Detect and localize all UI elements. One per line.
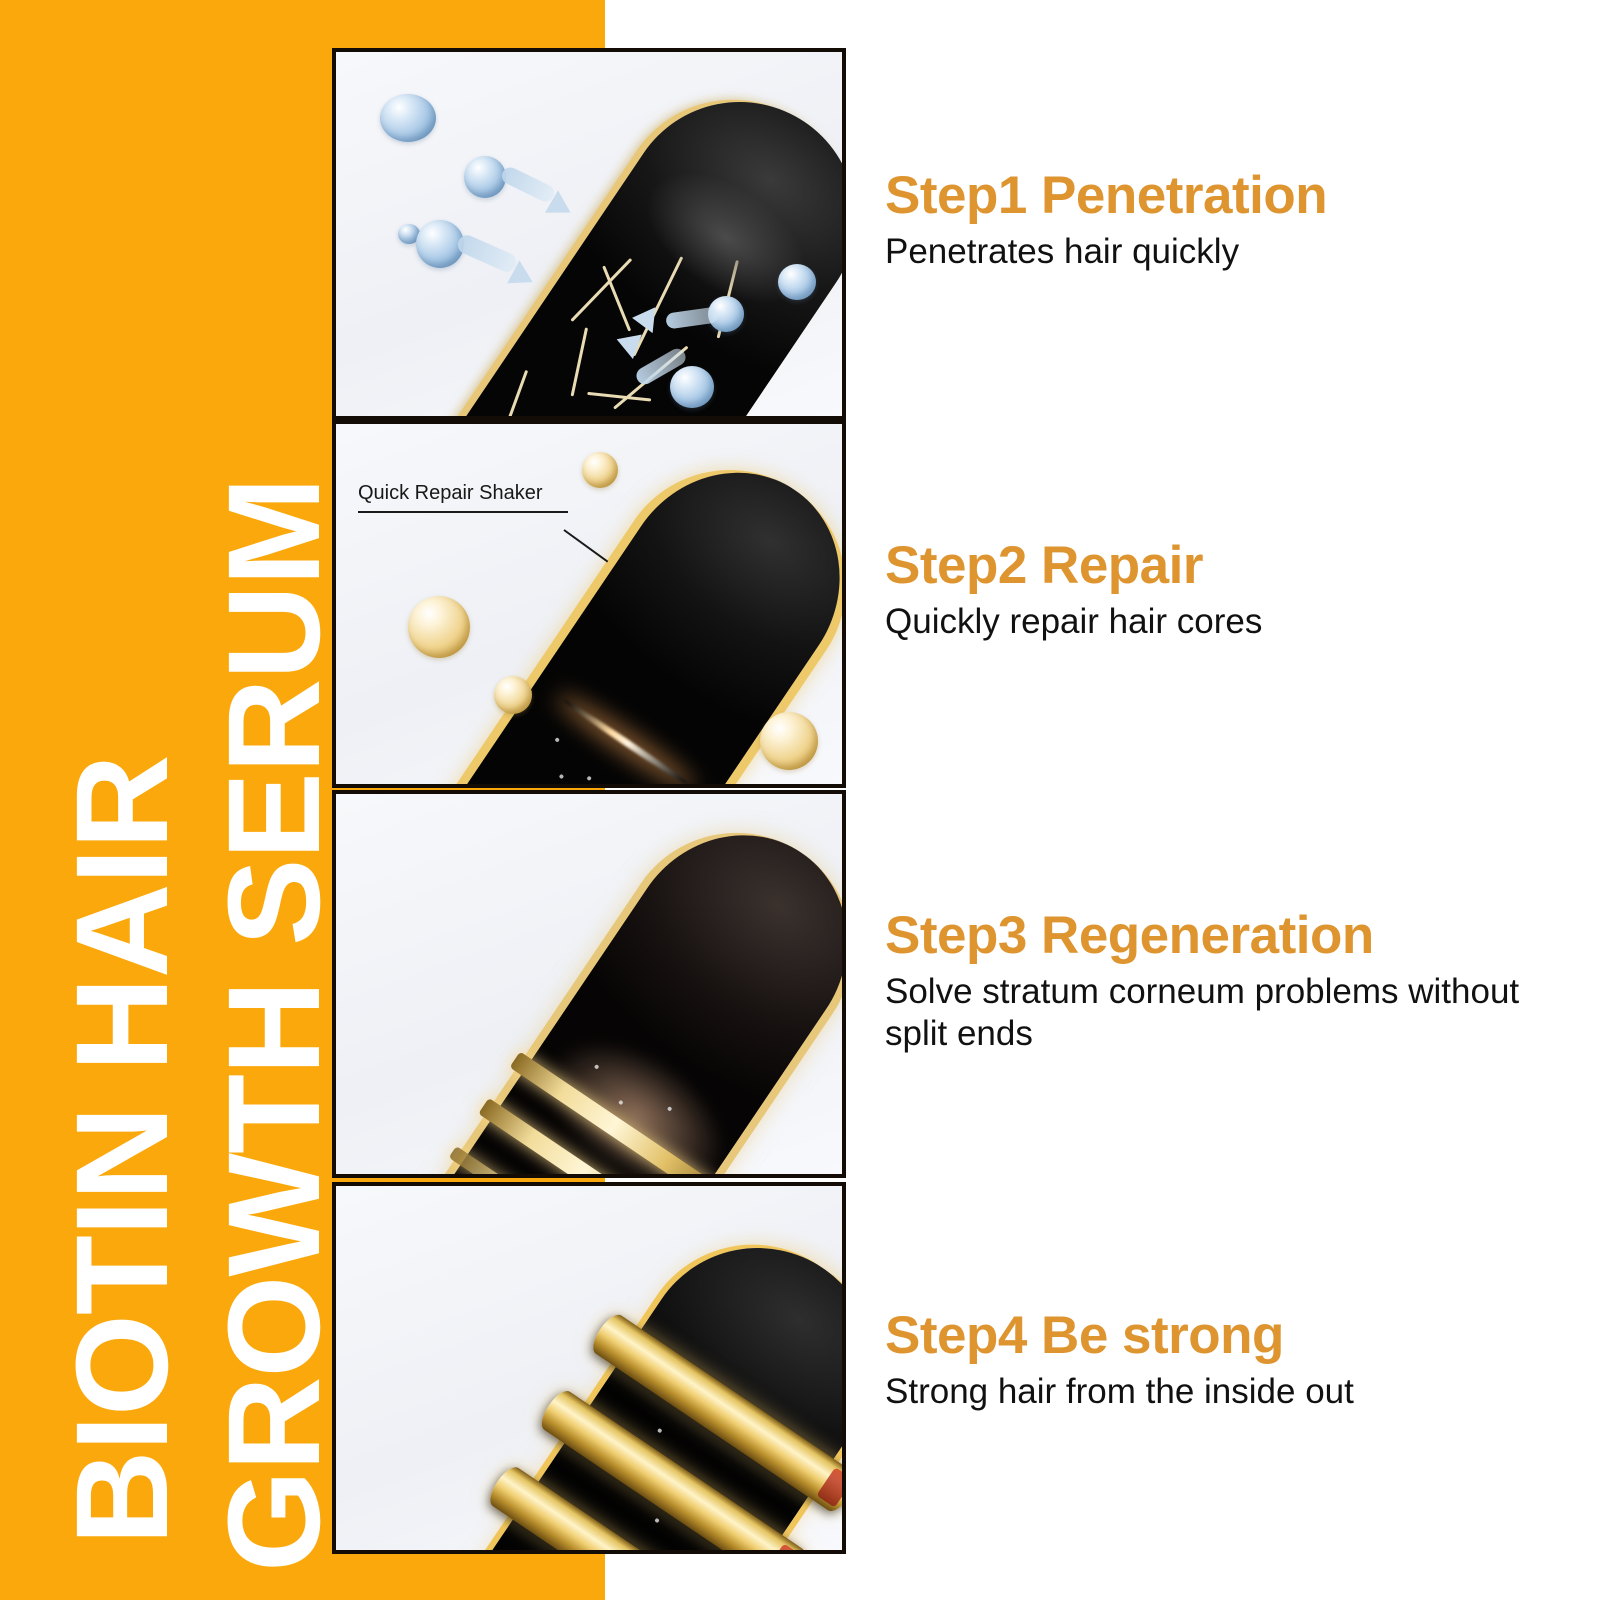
step-block-1: Step1 Penetration Penetrates hair quickl… xyxy=(885,168,1585,273)
step-3-title: Step3 Regeneration xyxy=(885,908,1585,964)
step-2-description: Quickly repair hair cores xyxy=(885,601,1585,644)
illustration-panel-regeneration xyxy=(332,790,846,1178)
serum-droplet-gold xyxy=(760,712,818,770)
illustration-panel-be-strong xyxy=(332,1182,846,1554)
product-title-line-1: BIOTIN HAIR xyxy=(56,755,187,1545)
hair-shaft-regenerating xyxy=(386,794,842,1174)
serum-droplet xyxy=(380,94,436,142)
panel-3-scene xyxy=(336,794,842,1174)
penetration-arrow xyxy=(631,305,656,333)
callout-label: Quick Repair Shaker xyxy=(358,482,618,505)
penetration-arrow xyxy=(455,232,519,275)
serum-droplet-gold xyxy=(408,596,470,658)
step-4-description: Strong hair from the inside out xyxy=(885,1371,1585,1414)
step-block-3: Step3 Regeneration Solve stratum corneum… xyxy=(885,908,1585,1056)
callout-leader-line xyxy=(563,529,608,562)
illustration-panel-penetration xyxy=(332,48,846,420)
product-title-line-2: GROWTH SERUM xyxy=(208,478,339,1572)
callout-underline xyxy=(358,511,568,513)
serum-droplet-gold xyxy=(494,676,532,714)
step-3-description: Solve stratum corneum problems without s… xyxy=(885,971,1585,1056)
serum-droplet xyxy=(778,264,816,300)
step-2-title: Step2 Repair xyxy=(885,538,1585,594)
panel-4-scene xyxy=(336,1186,842,1550)
panel-1-scene xyxy=(336,52,842,416)
penetration-arrow xyxy=(499,165,557,205)
callout-quick-repair-shaker: Quick Repair Shaker xyxy=(358,482,618,513)
serum-droplet xyxy=(464,156,506,198)
step-block-2: Step2 Repair Quickly repair hair cores xyxy=(885,538,1585,643)
infographic-page: BIOTIN HAIR GROWTH SERUM xyxy=(0,0,1600,1600)
step-1-title: Step1 Penetration xyxy=(885,168,1585,224)
hair-shaft-strong xyxy=(413,1203,842,1550)
repair-light-streak xyxy=(562,698,689,784)
step-block-4: Step4 Be strong Strong hair from the ins… xyxy=(885,1308,1585,1413)
serum-droplet xyxy=(670,366,714,408)
step-4-title: Step4 Be strong xyxy=(885,1308,1585,1364)
step-1-description: Penetrates hair quickly xyxy=(885,231,1585,274)
illustration-panel-repair: Quick Repair Shaker xyxy=(332,420,846,788)
panel-2-scene: Quick Repair Shaker xyxy=(336,424,842,784)
